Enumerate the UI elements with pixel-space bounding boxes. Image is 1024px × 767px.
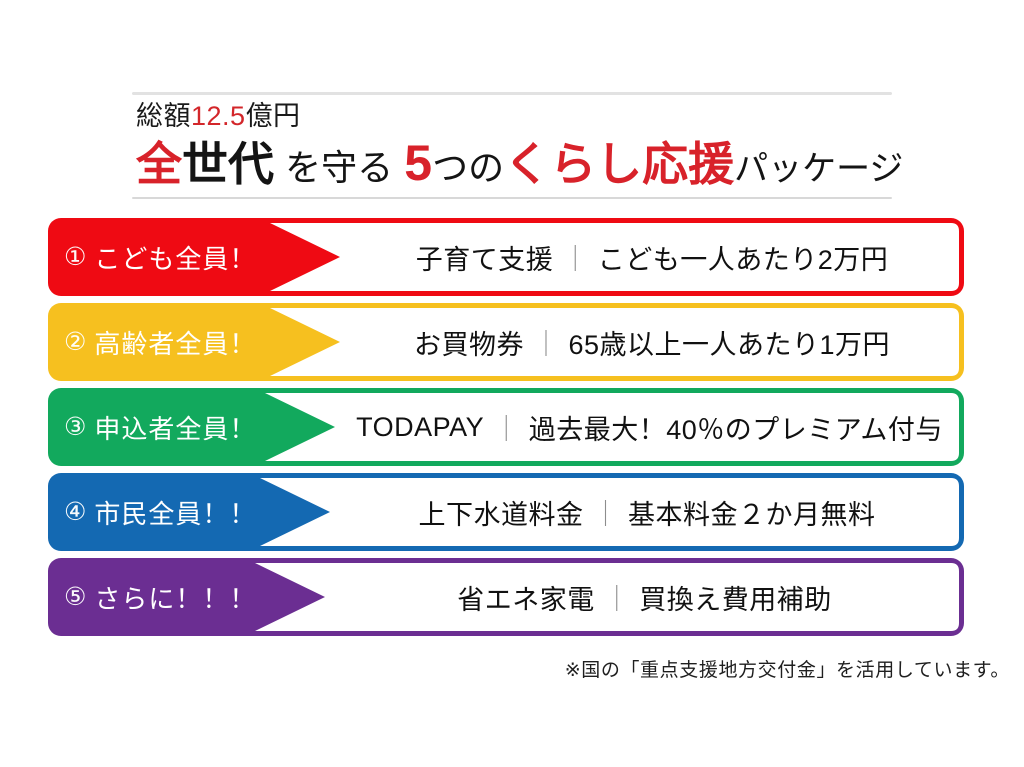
measure-row[interactable]: ④市民全員！！上下水道料金｜基本料金２か月無料 xyxy=(48,473,964,551)
row-shape xyxy=(48,218,964,296)
title-segment-all: 全 xyxy=(136,138,182,190)
title-segment-package: パッケージ xyxy=(734,150,903,188)
row-shape xyxy=(48,558,964,636)
row-shape xyxy=(48,388,964,466)
row-panel xyxy=(265,393,959,461)
measure-row[interactable]: ①こども全員！子育て支援｜こども一人あたり2万円 xyxy=(48,218,964,296)
title-segment-five: 5 xyxy=(404,135,432,191)
row-panel xyxy=(270,308,959,376)
title-segment-protect: を守る xyxy=(285,147,393,188)
total-amount-value: 12.5 xyxy=(191,101,246,131)
title-segment-generation: 世代 xyxy=(182,138,274,190)
header-divider-bottom xyxy=(132,197,892,199)
total-amount-prefix: 総額 xyxy=(136,101,191,131)
total-amount-suffix: 億円 xyxy=(246,101,301,131)
row-panel xyxy=(255,563,959,631)
row-shape xyxy=(48,473,964,551)
total-amount-line: 総額12.5億円 xyxy=(136,101,892,132)
measure-row[interactable]: ②高齢者全員！お買物券｜65歳以上一人あたり1万円 xyxy=(48,303,964,381)
footnote-text: ※国の「重点支援地方交付金」を活用しています。 xyxy=(565,655,1010,682)
header-block: 総額12.5億円 全世代 を守る 5つのくらし応援パッケージ xyxy=(132,92,892,199)
page-title: 全世代 を守る 5つのくらし応援パッケージ xyxy=(136,134,892,193)
title-segment-kurashi-ouen: くらし応援 xyxy=(504,138,734,190)
row-panel xyxy=(260,478,959,546)
row-shape xyxy=(48,303,964,381)
measure-row[interactable]: ⑤さらに！！！省エネ家電｜買換え費用補助 xyxy=(48,558,964,636)
measure-row[interactable]: ③申込者全員！TODAPAY｜過去最大！40％のプレミアム付与 xyxy=(48,388,964,466)
title-segment-counter: つの xyxy=(432,147,504,188)
poster-canvas: 総額12.5億円 全世代 を守る 5つのくらし応援パッケージ ①こども全員！子育… xyxy=(0,0,1024,767)
row-panel xyxy=(270,223,959,291)
header-text-group: 総額12.5億円 全世代 を守る 5つのくらし応援パッケージ xyxy=(132,95,892,197)
measures-list: ①こども全員！子育て支援｜こども一人あたり2万円②高齢者全員！お買物券｜65歳以… xyxy=(48,218,964,643)
